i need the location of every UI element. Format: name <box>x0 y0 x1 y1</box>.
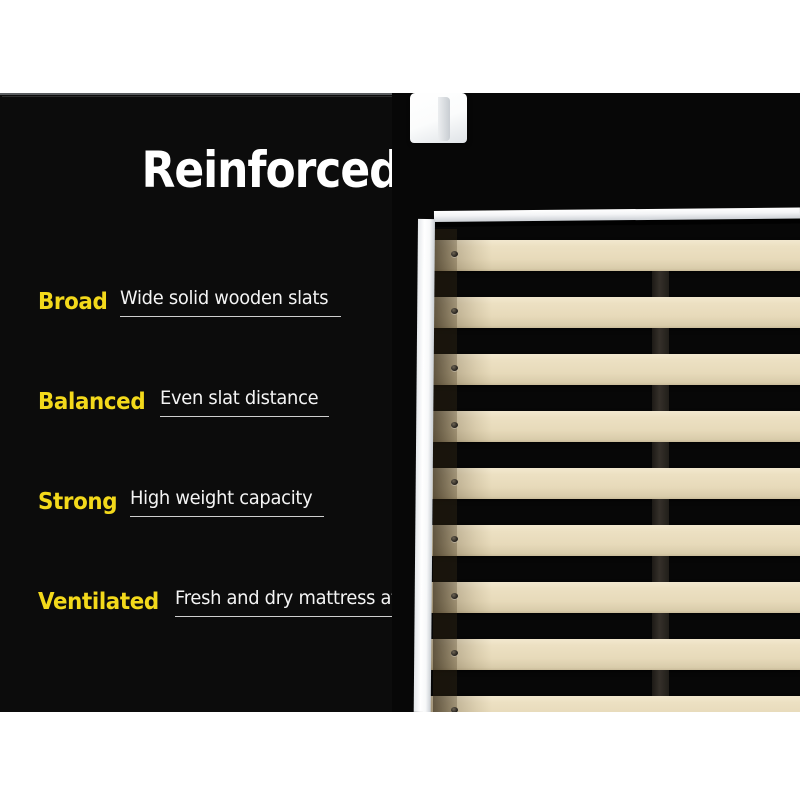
list-item: Strong High weight capacity <box>38 485 438 585</box>
centre-support-beam <box>652 556 669 582</box>
wooden-slat <box>430 696 800 712</box>
feature-description-broad: Wide solid wooden slats <box>120 285 328 311</box>
slat-screw <box>451 650 458 656</box>
list-item: Ventilated Fresh and dry mattress at all… <box>38 585 438 685</box>
wooden-slat <box>430 297 800 328</box>
slat-screw <box>451 479 458 485</box>
feature-description-strong: High weight capacity <box>130 485 312 511</box>
bed-frame-photo <box>392 93 800 712</box>
corner-post-side-face <box>438 97 450 141</box>
feature-list: Broad Wide solid wooden slats Balanced E… <box>38 285 438 685</box>
slat-attachment-strip <box>433 229 457 712</box>
list-item: Balanced Even slat distance <box>38 385 438 485</box>
feature-underline-broad: Wide solid wooden slats <box>120 285 342 317</box>
slat-screw <box>451 707 458 712</box>
feature-underline-balanced: Even slat distance <box>160 385 328 417</box>
slat-screw <box>451 365 458 371</box>
slat-screw <box>451 536 458 542</box>
centre-support-beam <box>652 328 669 354</box>
centre-support-beam <box>652 385 669 411</box>
centre-support-beam <box>652 613 669 639</box>
black-banner-panel: Reinforced thick slats Broad Wide solid … <box>0 93 800 712</box>
feature-label-ventilated: Ventilated <box>38 585 159 615</box>
centre-support-beam <box>652 442 669 468</box>
slat-screw <box>451 308 458 314</box>
feature-underline-strong: High weight capacity <box>130 485 324 517</box>
wooden-slat <box>430 468 800 499</box>
centre-support-beam <box>652 670 669 696</box>
wooden-slat <box>430 240 800 271</box>
wooden-slat <box>430 525 800 556</box>
slat-screw <box>451 251 458 257</box>
wooden-slat <box>430 354 800 385</box>
feature-label-strong: Strong <box>38 485 117 515</box>
feature-label-broad: Broad <box>38 285 107 315</box>
slat-screw <box>451 422 458 428</box>
wooden-slat <box>430 582 800 613</box>
slat-deck <box>430 229 800 712</box>
product-banner-image: Reinforced thick slats Broad Wide solid … <box>0 0 800 800</box>
feature-description-balanced: Even slat distance <box>160 385 318 411</box>
wooden-slat <box>430 411 800 442</box>
feature-label-balanced: Balanced <box>38 385 145 415</box>
centre-support-beam <box>652 271 669 297</box>
wooden-slat <box>430 639 800 670</box>
list-item: Broad Wide solid wooden slats <box>38 285 438 385</box>
centre-support-beam <box>652 499 669 525</box>
slat-screw <box>451 593 458 599</box>
